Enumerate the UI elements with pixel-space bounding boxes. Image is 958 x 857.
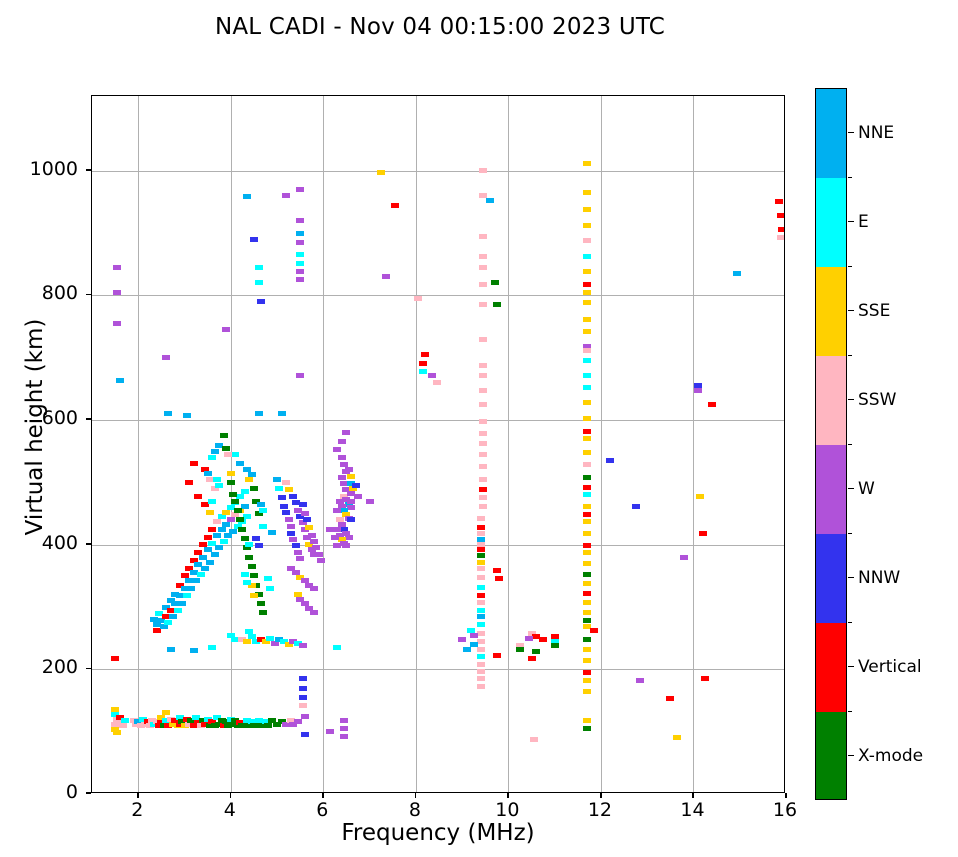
echo-point: [266, 586, 274, 591]
echo-point: [583, 450, 591, 455]
echo-point: [299, 695, 307, 700]
colorbar-band-ssw: [816, 356, 846, 445]
echo-point: [477, 676, 485, 681]
echo-point: [583, 543, 591, 548]
echo-point: [333, 508, 341, 513]
echo-point: [583, 462, 591, 467]
echo-point: [583, 429, 591, 434]
echo-point: [479, 464, 487, 469]
echo-point: [208, 527, 216, 532]
echo-point: [583, 658, 591, 663]
echo-point: [162, 710, 170, 715]
echo-point: [479, 302, 487, 307]
echo-point: [421, 352, 429, 357]
echo-point: [338, 475, 346, 480]
echo-point: [377, 170, 385, 175]
echo-point: [477, 553, 485, 558]
echo-point: [479, 373, 487, 378]
echo-point: [183, 413, 191, 418]
echo-point: [583, 610, 591, 615]
echo-point: [347, 517, 355, 522]
echo-point: [208, 645, 216, 650]
y-tick-mark: [86, 169, 91, 171]
echo-point: [333, 543, 341, 548]
echo-point: [160, 624, 168, 629]
echo-point: [296, 373, 304, 378]
echo-point: [292, 543, 300, 548]
y-tick-label: 0: [8, 781, 78, 803]
echo-point: [479, 419, 487, 424]
echo-point: [583, 238, 591, 243]
echo-point: [252, 536, 260, 541]
colorbar-tick: [848, 221, 854, 222]
colorbar[interactable]: [815, 88, 847, 800]
echo-point: [282, 193, 290, 198]
echo-point: [583, 161, 591, 166]
echo-point: [243, 580, 251, 585]
echo-point: [229, 529, 237, 534]
echo-point: [259, 610, 267, 615]
echo-point: [583, 581, 591, 586]
echo-point: [167, 647, 175, 652]
echo-point: [303, 517, 311, 522]
colorbar-band-x-mode: [816, 712, 846, 800]
echo-point: [583, 317, 591, 322]
echo-point: [347, 505, 355, 510]
echo-point: [229, 492, 237, 497]
echo-point: [296, 277, 304, 282]
echo-point: [317, 558, 325, 563]
echo-point: [241, 536, 249, 541]
echo-point: [470, 633, 478, 638]
echo-point: [299, 686, 307, 691]
x-tick-mark: [785, 793, 787, 798]
echo-point: [264, 723, 272, 728]
gridline-vertical: [416, 96, 417, 792]
echo-point: [287, 524, 295, 529]
echo-point: [119, 723, 127, 728]
echo-point: [331, 535, 339, 540]
colorbar-boundary-tick: [848, 266, 852, 267]
echo-point: [583, 678, 591, 683]
echo-point: [583, 254, 591, 259]
echo-point: [310, 586, 318, 591]
echo-point: [238, 527, 246, 532]
echo-point: [113, 730, 121, 735]
x-tick-label: 8: [385, 799, 445, 821]
echo-point: [583, 572, 591, 577]
x-tick-label: 12: [570, 799, 630, 821]
echo-point: [204, 471, 212, 476]
echo-point: [190, 648, 198, 653]
echo-point: [255, 543, 263, 548]
echo-point: [477, 516, 485, 521]
echo-point: [285, 487, 293, 492]
echo-point: [493, 568, 501, 573]
echo-point: [590, 628, 598, 633]
echo-point: [583, 647, 591, 652]
echo-point: [479, 168, 487, 173]
echo-point: [185, 480, 193, 485]
echo-point: [477, 614, 485, 619]
colorbar-band-e: [816, 178, 846, 267]
echo-point: [583, 223, 591, 228]
echo-point: [301, 732, 309, 737]
echo-point: [206, 510, 214, 515]
gridline-vertical: [323, 96, 324, 792]
echo-point: [227, 480, 235, 485]
echo-point: [259, 524, 267, 529]
echo-point: [231, 499, 239, 504]
echo-point: [294, 550, 302, 555]
echo-point: [391, 203, 399, 208]
echo-point: [583, 207, 591, 212]
x-tick-mark: [600, 793, 602, 798]
echo-point: [178, 601, 186, 606]
colorbar-tick: [848, 666, 854, 667]
echo-point: [255, 265, 263, 270]
echo-point: [213, 519, 221, 524]
gridline-vertical: [601, 96, 602, 792]
echo-point: [636, 678, 644, 683]
echo-point: [231, 452, 239, 457]
echo-point: [222, 446, 230, 451]
echo-point: [477, 560, 485, 565]
echo-point: [220, 539, 228, 544]
echo-point: [250, 486, 258, 491]
echo-point: [583, 475, 591, 480]
echo-point: [479, 504, 487, 509]
echo-point: [287, 531, 295, 536]
echo-point: [211, 552, 219, 557]
echo-point: [206, 560, 214, 565]
echo-point: [583, 718, 591, 723]
y-axis-label: Virtual height (km): [22, 227, 48, 627]
echo-point: [528, 656, 536, 661]
echo-point: [366, 499, 374, 504]
echo-point: [282, 510, 290, 515]
colorbar-boundary-tick: [848, 444, 852, 445]
echo-point: [218, 514, 226, 519]
echo-point: [278, 411, 286, 416]
echo-point: [215, 483, 223, 488]
echo-point: [116, 378, 124, 383]
echo-point: [340, 718, 348, 723]
y-tick-mark: [86, 543, 91, 545]
colorbar-label-vertical: Vertical: [858, 657, 922, 677]
echo-point: [208, 499, 216, 504]
echo-point: [338, 439, 346, 444]
echo-point: [583, 358, 591, 363]
echo-point: [583, 550, 591, 555]
echo-point: [382, 274, 390, 279]
colorbar-band-nnw: [816, 534, 846, 623]
colorbar-tick: [848, 310, 854, 311]
echo-point: [301, 511, 309, 516]
colorbar-band-nne: [816, 89, 846, 178]
echo-point: [583, 348, 591, 353]
echo-point: [477, 622, 485, 627]
echo-point: [345, 467, 353, 472]
gridline-horizontal: [92, 545, 784, 546]
echo-point: [227, 471, 235, 476]
echo-point: [583, 600, 591, 605]
echo-point: [479, 265, 487, 270]
echo-point: [296, 187, 304, 192]
echo-point: [305, 525, 313, 530]
echo-point: [243, 514, 251, 519]
echo-point: [632, 504, 640, 509]
gridline-horizontal: [92, 171, 784, 172]
echo-point: [539, 637, 547, 642]
x-tick-mark: [692, 793, 694, 798]
echo-point: [296, 231, 304, 236]
echo-point: [294, 719, 302, 724]
echo-point: [275, 486, 283, 491]
echo-point: [243, 639, 251, 644]
echo-point: [583, 561, 591, 566]
echo-point: [236, 517, 244, 522]
echo-point: [666, 696, 674, 701]
gridline-horizontal: [92, 669, 784, 670]
colorbar-tick: [848, 399, 854, 400]
echo-point: [708, 402, 716, 407]
echo-point: [222, 510, 230, 515]
colorbar-tick: [848, 577, 854, 578]
echo-point: [299, 676, 307, 681]
colorbar-label-ssw: SSW: [858, 390, 896, 410]
echo-point: [299, 502, 307, 507]
echo-point: [113, 321, 121, 326]
echo-point: [493, 653, 501, 658]
echo-point: [525, 636, 533, 641]
echo-point: [296, 218, 304, 223]
echo-point: [234, 508, 242, 513]
echo-point: [532, 649, 540, 654]
echo-point: [583, 670, 591, 675]
echo-point: [733, 271, 741, 276]
echo-point: [778, 227, 785, 232]
plot-area[interactable]: [91, 95, 785, 793]
echo-point: [479, 282, 487, 287]
echo-point: [583, 269, 591, 274]
echo-point: [486, 198, 494, 203]
echo-point: [113, 290, 121, 295]
echo-point: [479, 402, 487, 407]
echo-point: [310, 539, 318, 544]
echo-point: [477, 566, 485, 571]
echo-point: [777, 213, 785, 218]
echo-point: [458, 637, 466, 642]
echo-point: [493, 302, 501, 307]
x-tick-label: 14: [662, 799, 722, 821]
y-tick-label: 200: [8, 656, 78, 678]
echo-point: [583, 485, 591, 490]
echo-point: [245, 542, 253, 547]
y-tick-mark: [86, 294, 91, 296]
colorbar-label-sse: SSE: [858, 301, 890, 321]
echo-point: [312, 545, 320, 550]
echo-point: [250, 593, 258, 598]
echo-point: [477, 662, 485, 667]
echo-point: [477, 631, 485, 636]
echo-point: [583, 591, 591, 596]
echo-point: [273, 477, 281, 482]
echo-point: [296, 261, 304, 266]
echo-point: [477, 639, 485, 644]
echo-point: [241, 489, 249, 494]
echo-point: [583, 512, 591, 517]
echo-point: [428, 373, 436, 378]
echo-point: [419, 369, 427, 374]
echo-point: [680, 555, 688, 560]
echo-point: [326, 527, 334, 532]
echo-point: [583, 300, 591, 305]
echo-point: [299, 643, 307, 648]
echo-point: [257, 502, 265, 507]
colorbar-boundary-tick: [848, 622, 852, 623]
echo-point: [477, 593, 485, 598]
colorbar-label-nne: NNE: [858, 123, 894, 143]
echo-point: [255, 411, 263, 416]
echo-point: [340, 726, 348, 731]
echo-point: [694, 388, 702, 393]
colorbar-label-e: E: [858, 212, 869, 232]
echo-point: [583, 637, 591, 642]
echo-point: [701, 676, 709, 681]
echo-point: [220, 433, 228, 438]
y-tick-label: 1000: [8, 158, 78, 180]
gridline-vertical: [693, 96, 694, 792]
x-tick-mark: [137, 793, 139, 798]
y-tick-mark: [86, 792, 91, 794]
echo-point: [354, 494, 362, 499]
echo-point: [280, 504, 288, 509]
echo-point: [477, 575, 485, 580]
echo-point: [215, 545, 223, 550]
echo-point: [218, 527, 226, 532]
x-tick-mark: [507, 793, 509, 798]
echo-point: [479, 388, 487, 393]
echo-point: [285, 517, 293, 522]
echo-point: [224, 452, 232, 457]
echo-point: [236, 461, 244, 466]
echo-point: [583, 436, 591, 441]
echo-point: [241, 572, 249, 577]
colorbar-label-x-mode: X-mode: [858, 746, 923, 766]
echo-point: [257, 601, 265, 606]
colorbar-tick: [848, 755, 854, 756]
echo-point: [113, 265, 121, 270]
echo-point: [213, 477, 221, 482]
echo-point: [583, 416, 591, 421]
echo-point: [296, 252, 304, 257]
echo-point: [583, 290, 591, 295]
echo-point: [433, 380, 441, 385]
echo-point: [583, 329, 591, 334]
echo-point: [479, 254, 487, 259]
echo-point: [479, 234, 487, 239]
echo-point: [342, 543, 350, 548]
echo-point: [333, 645, 341, 650]
echo-point: [243, 194, 251, 199]
echo-point: [583, 504, 591, 509]
echo-point: [477, 525, 485, 530]
echo-point: [164, 411, 172, 416]
echo-point: [264, 576, 272, 581]
echo-point: [463, 647, 471, 652]
y-tick-mark: [86, 418, 91, 420]
echo-point: [699, 531, 707, 536]
x-tick-mark: [322, 793, 324, 798]
echo-point: [299, 703, 307, 708]
echo-point: [470, 642, 478, 647]
echo-point: [169, 614, 177, 619]
echo-point: [255, 280, 263, 285]
echo-point: [241, 504, 249, 509]
colorbar-band-sse: [816, 267, 846, 356]
echo-point: [347, 474, 355, 479]
echo-point: [477, 600, 485, 605]
gridline-vertical: [231, 96, 232, 792]
echo-point: [352, 483, 360, 488]
echo-point: [326, 729, 334, 734]
x-tick-label: 2: [107, 799, 167, 821]
echo-point: [197, 572, 205, 577]
gridline-horizontal: [92, 295, 784, 296]
echo-point: [414, 296, 422, 301]
echo-point: [338, 455, 346, 460]
echo-point: [259, 508, 267, 513]
echo-point: [477, 531, 485, 536]
echo-point: [479, 441, 487, 446]
echo-point: [208, 455, 216, 460]
echo-point: [289, 537, 297, 542]
colorbar-tick: [848, 132, 854, 133]
echo-point: [310, 610, 318, 615]
colorbar-label-w: W: [858, 479, 875, 499]
echo-point: [213, 533, 221, 538]
colorbar-tick: [848, 488, 854, 489]
echo-point: [342, 430, 350, 435]
echo-point: [491, 280, 499, 285]
echo-point: [192, 578, 200, 583]
echo-point: [345, 535, 353, 540]
echo-point: [194, 494, 202, 499]
echo-point: [211, 449, 219, 454]
echo-point: [419, 361, 427, 366]
echo-point: [530, 737, 538, 742]
echo-point: [477, 585, 485, 590]
echo-point: [477, 654, 485, 659]
echo-point: [479, 477, 487, 482]
echo-point: [164, 620, 172, 625]
echo-point: [227, 517, 235, 522]
echo-point: [315, 552, 323, 557]
colorbar-band-vertical: [816, 623, 846, 712]
x-axis-label: Frequency (MHz): [91, 820, 785, 846]
echo-point: [583, 492, 591, 497]
echo-point: [583, 190, 591, 195]
x-tick-mark: [230, 793, 232, 798]
echo-point: [477, 669, 485, 674]
echo-point: [296, 240, 304, 245]
x-tick-label: 10: [477, 799, 537, 821]
gridline-vertical: [138, 96, 139, 792]
echo-point: [477, 684, 485, 689]
echo-point: [583, 726, 591, 731]
echo-point: [477, 547, 485, 552]
